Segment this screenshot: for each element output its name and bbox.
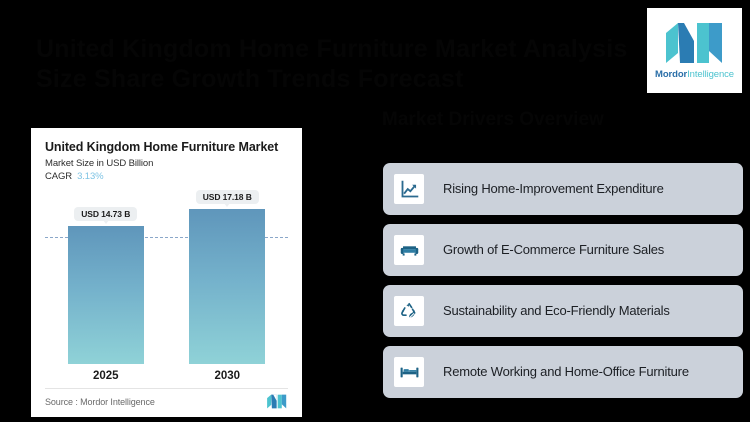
driver-label: Rising Home-Improvement Expenditure [443, 181, 664, 197]
bar-chart-plot: USD 14.73 B USD 17.18 B 2025 2030 [45, 190, 288, 386]
market-drivers-list: Rising Home-Improvement Expenditure Grow… [383, 163, 743, 398]
x-axis-label-2030: 2030 [179, 370, 276, 382]
driver-card-growth-of-ecommerce-furniture-sales[interactable]: Growth of E-Commerce Furniture Sales [383, 224, 743, 276]
chart-source-text: Source : Mordor Intelligence [45, 397, 155, 407]
driver-label: Sustainability and Eco-Friendly Material… [443, 303, 670, 319]
chart-footer: Source : Mordor Intelligence [45, 388, 288, 409]
x-axis-label-2025: 2025 [57, 370, 154, 382]
bar-group-2030: USD 17.18 B [179, 190, 276, 364]
brand-wordmark: MordorIntelligence [655, 69, 734, 80]
driver-card-rising-home-improvement-expenditure[interactable]: Rising Home-Improvement Expenditure [383, 163, 743, 215]
bed-icon [394, 357, 424, 387]
bar-2030 [189, 209, 265, 364]
page-title: United Kingdom Home Furniture Market Ana… [36, 34, 636, 94]
driver-label: Remote Working and Home-Office Furniture [443, 364, 689, 380]
brand-name-light: Intelligence [687, 69, 734, 80]
chart-cagr-label: CAGR [45, 171, 72, 182]
chart-title: United Kingdom Home Furniture Market [45, 140, 288, 155]
section-heading: Market Drivers Overview [382, 108, 662, 132]
chart-subtitle: Market Size in USD Billion [45, 158, 288, 169]
mordor-m-logo-icon [266, 394, 288, 409]
chart-cagr-row: CAGR3.13% [45, 171, 288, 182]
brand-logo: MordorIntelligence [647, 8, 742, 93]
bar-group-2025: USD 14.73 B [57, 190, 154, 364]
brand-name-bold: Mordor [655, 69, 687, 80]
chart-cagr-value: 3.13% [77, 171, 103, 182]
market-size-chart-card: United Kingdom Home Furniture Market Mar… [31, 128, 302, 417]
driver-card-remote-working-and-home-office-furniture[interactable]: Remote Working and Home-Office Furniture [383, 346, 743, 398]
driver-label: Growth of E-Commerce Furniture Sales [443, 242, 664, 258]
sofa-icon [394, 235, 424, 265]
chart-growth-icon [394, 174, 424, 204]
mordor-m-logo-icon [664, 21, 726, 65]
x-axis-labels: 2025 2030 [45, 366, 288, 386]
bar-value-label: USD 17.18 B [196, 190, 259, 204]
recycle-leaf-icon [394, 296, 424, 326]
bar-series: USD 14.73 B USD 17.18 B [45, 190, 288, 364]
bar-value-label: USD 14.73 B [74, 207, 137, 221]
driver-card-sustainability-and-eco-friendly-materials[interactable]: Sustainability and Eco-Friendly Material… [383, 285, 743, 337]
bar-2025 [68, 226, 144, 364]
